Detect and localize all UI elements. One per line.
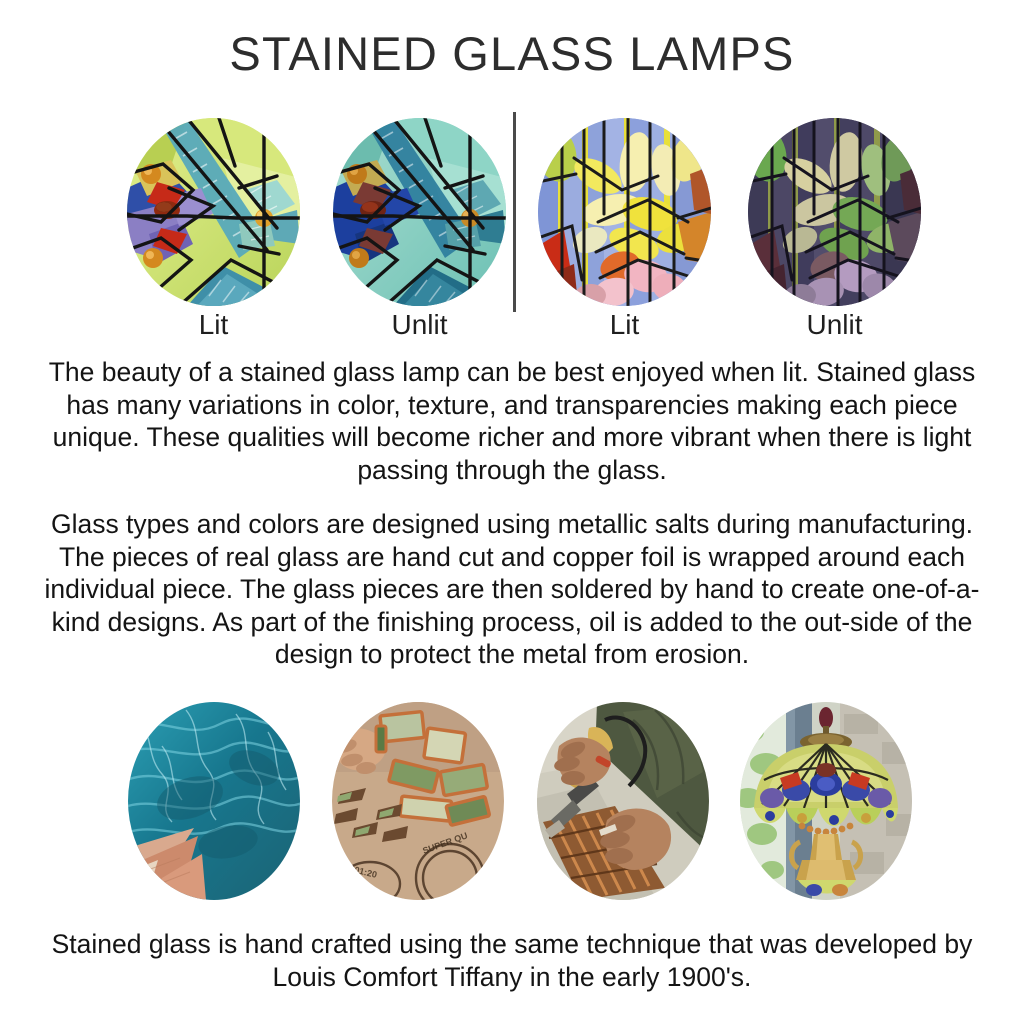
process-image-glass-sheets (128, 702, 300, 900)
comparison-image-geometric-panel-unlit (333, 118, 506, 306)
comparison-image-geometric-panel-lit (127, 118, 300, 306)
comparison-label-3: Lit (538, 309, 711, 341)
comparison-row (0, 118, 1024, 308)
geometric-panel-lit-icon (127, 118, 300, 306)
process-image-soldering (537, 702, 709, 900)
glass-sheets-photo-icon (128, 702, 300, 900)
comparison-label-4: Unlit (748, 309, 921, 341)
footer-caption: Stained glass is hand crafted using the … (32, 928, 992, 994)
comparison-image-floral-wisteria-unlit (748, 118, 921, 306)
floral-wisteria-lit-icon (538, 118, 711, 306)
process-row: SUPER QU 9001:20 ISO (0, 702, 1024, 902)
svg-text:ISO: ISO (352, 884, 369, 897)
comparison-label-1: Lit (127, 309, 300, 341)
process-image-finished-lamp (740, 702, 912, 900)
copper-foiling-photo-icon: SUPER QU 9001:20 ISO (332, 702, 504, 900)
process-image-copper-foiling: SUPER QU 9001:20 ISO (332, 702, 504, 900)
body-paragraph-2: Glass types and colors are designed usin… (32, 508, 992, 671)
comparison-label-2: Unlit (333, 309, 506, 341)
section-divider (513, 112, 516, 312)
page-title: STAINED GLASS LAMPS (0, 26, 1024, 81)
poster-canvas: STAINED GLASS LAMPS (0, 0, 1024, 1024)
geometric-panel-unlit-icon (333, 118, 506, 306)
comparison-labels: Lit Unlit Lit Unlit (0, 309, 1024, 345)
floral-wisteria-unlit-icon (748, 118, 921, 306)
soldering-photo-icon (537, 702, 709, 900)
body-paragraph-1: The beauty of a stained glass lamp can b… (32, 356, 992, 486)
finished-lamp-photo-icon (740, 702, 912, 900)
comparison-image-floral-wisteria-lit (538, 118, 711, 306)
